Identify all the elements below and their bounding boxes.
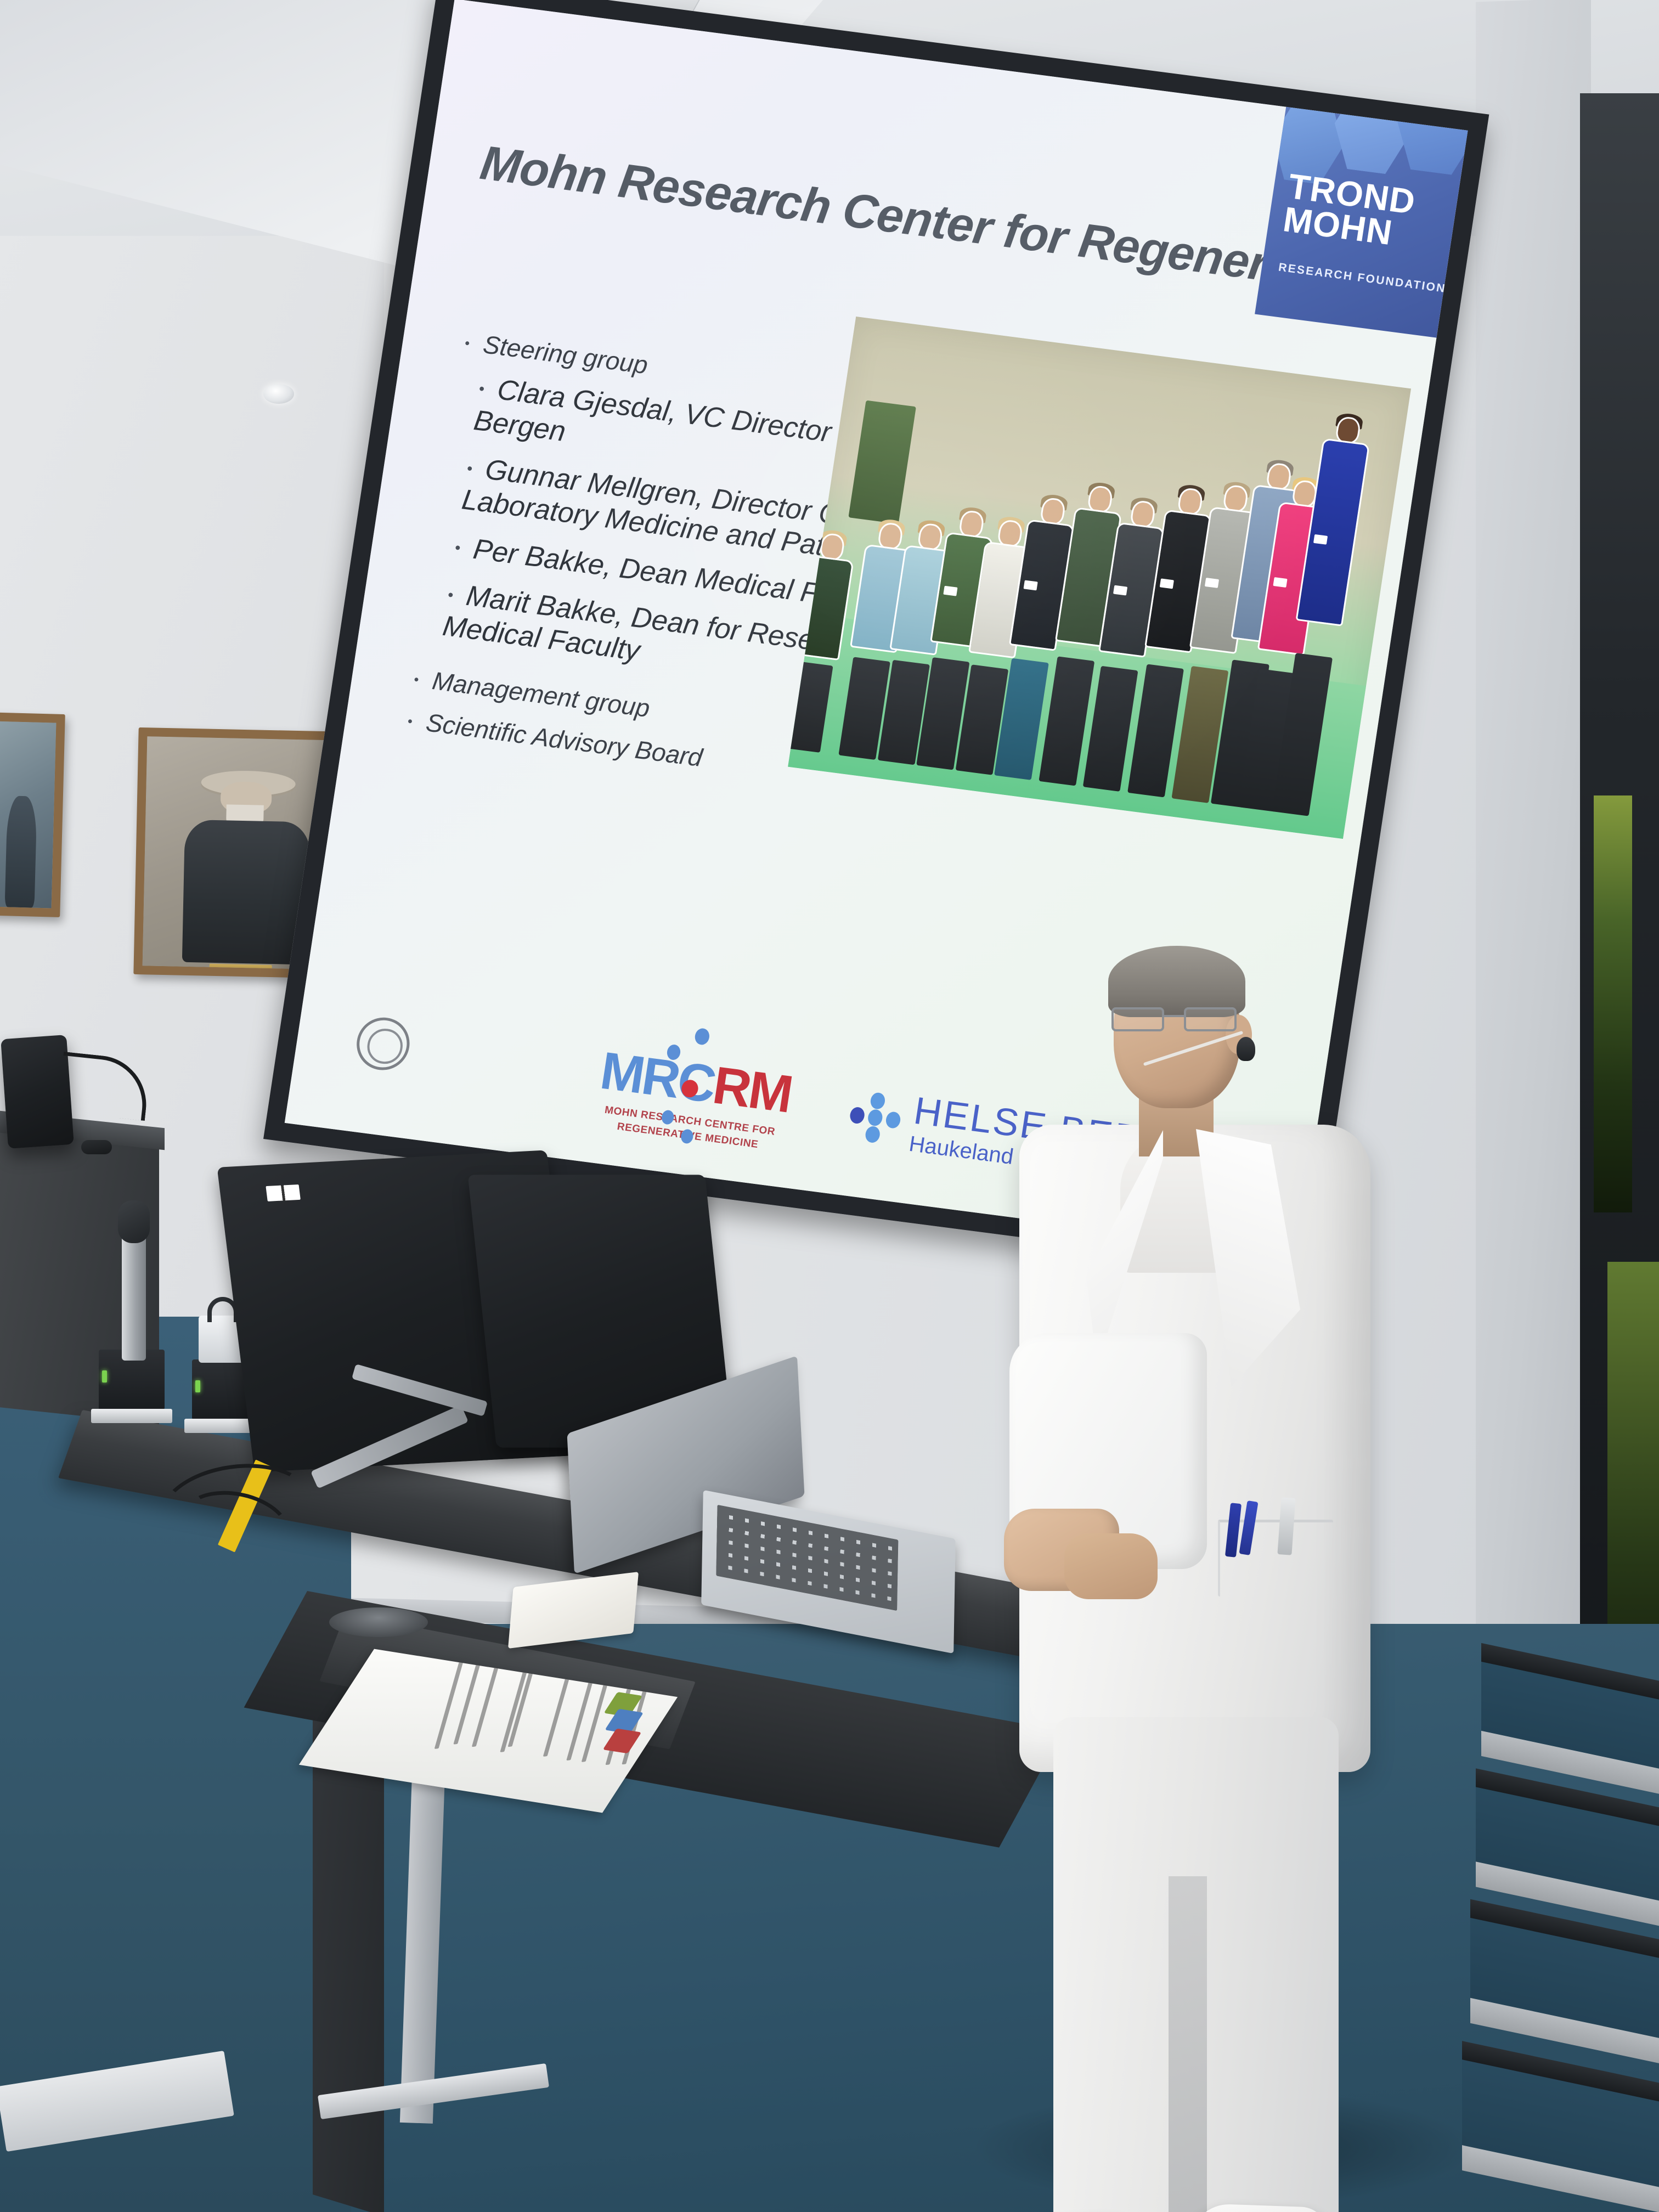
handheld-microphone[interactable] [122, 1234, 146, 1361]
sheet-icon-red [603, 1729, 641, 1754]
framed-painting-left [0, 712, 65, 917]
slide-group-photo [788, 317, 1411, 839]
headset-microphone-earpiece [1237, 1037, 1255, 1061]
painting-canvas [0, 721, 56, 909]
university-of-bergen-seal [353, 1014, 414, 1073]
monitor-stand-base [329, 1607, 428, 1637]
trond-mohn-research-foundation-logo: TROND MOHN RESEARCH FOUNDATION [1255, 103, 1468, 338]
eyeglasses-icon [1111, 1007, 1237, 1032]
hair [1108, 946, 1245, 1017]
helse-bergen-dots-icon [847, 1089, 904, 1145]
outdoor-greenery-1 [1594, 795, 1632, 1212]
tm-logo-text: TROND MOHN [1281, 170, 1418, 252]
trouser-leg-separation [1169, 1876, 1207, 2212]
photo-scene: Mohn Research Center for Regenerative Me… [0, 0, 1659, 2212]
desk-mouse[interactable] [81, 1140, 112, 1154]
right-pillar [1476, 0, 1591, 1758]
monitor-asset-sticker [266, 1184, 300, 1201]
ceiling-downlight-2 [263, 384, 294, 404]
mrcrm-logo: MRCRM MOHN RESEARCH CENTRE FOR REGENERAT… [572, 1042, 814, 1158]
mrcrm-rm: RM [709, 1056, 795, 1124]
hand-right [1064, 1533, 1158, 1599]
tm-logo-tagline: RESEARCH FOUNDATION [1278, 261, 1447, 296]
painting-nameplate [209, 964, 272, 975]
presenter [1004, 955, 1421, 2212]
